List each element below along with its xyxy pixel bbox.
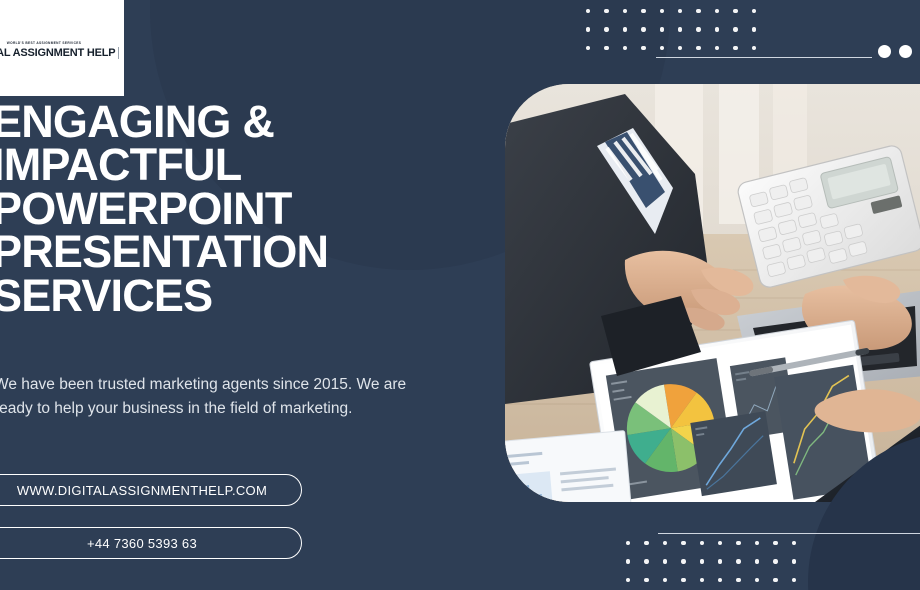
dot (752, 27, 756, 31)
dot (644, 578, 648, 582)
dot (681, 559, 685, 563)
large-dot (878, 45, 891, 58)
dot (644, 559, 648, 563)
dot (586, 46, 590, 50)
dot-grid-top (586, 9, 756, 50)
dot (678, 9, 682, 13)
phone-button-label: +44 7360 5393 63 (87, 536, 197, 551)
dot (678, 27, 682, 31)
logo-tagline: WORLD'S BEST ASSIGNMENT SERVICES (7, 41, 81, 45)
dot (681, 541, 685, 545)
hero-photo (505, 84, 920, 502)
promo-banner: WORLD'S BEST ASSIGNMENT SERVICES DIGITAL… (0, 0, 920, 590)
dot (681, 578, 685, 582)
divider-line-top (656, 57, 872, 58)
dot (755, 578, 759, 582)
dot (700, 578, 704, 582)
dot (623, 9, 627, 13)
dot (700, 541, 704, 545)
dot (773, 541, 777, 545)
logo[interactable]: WORLD'S BEST ASSIGNMENT SERVICES DIGITAL… (0, 0, 124, 96)
dot (755, 559, 759, 563)
dot (718, 559, 722, 563)
large-dot-row (878, 45, 920, 58)
dot (715, 9, 719, 13)
dot (792, 578, 796, 582)
dot (773, 559, 777, 563)
dot (733, 27, 737, 31)
dot (700, 559, 704, 563)
website-button-label: WWW.DIGITALASSIGNMENTHELP.COM (17, 483, 267, 498)
dot (660, 46, 664, 50)
dot (752, 46, 756, 50)
dot (660, 9, 664, 13)
dot (641, 46, 645, 50)
dot (736, 559, 740, 563)
dot (755, 541, 759, 545)
dot-grid-bottom (626, 541, 796, 582)
dot (696, 9, 700, 13)
phone-button[interactable]: +44 7360 5393 63 (0, 527, 302, 559)
dot (678, 46, 682, 50)
dot (696, 46, 700, 50)
dot (660, 27, 664, 31)
page-title: ENGAGING & IMPACTFUL POWERPOINT PRESENTA… (0, 100, 462, 317)
dot (663, 578, 667, 582)
dot (733, 9, 737, 13)
dot (773, 578, 777, 582)
dot (586, 27, 590, 31)
dot (663, 541, 667, 545)
dot (641, 27, 645, 31)
dot (623, 46, 627, 50)
dot (718, 578, 722, 582)
subtitle-text: We have been trusted marketing agents si… (0, 373, 444, 421)
dot (623, 27, 627, 31)
dot (733, 46, 737, 50)
dot (715, 27, 719, 31)
dot (586, 9, 590, 13)
dot (718, 541, 722, 545)
dot (736, 541, 740, 545)
dot (604, 9, 608, 13)
dot (626, 578, 630, 582)
dot (792, 559, 796, 563)
dot (626, 541, 630, 545)
large-dot (899, 45, 912, 58)
website-button[interactable]: WWW.DIGITALASSIGNMENTHELP.COM (0, 474, 302, 506)
dot (641, 9, 645, 13)
dot (752, 9, 756, 13)
dot (604, 27, 608, 31)
dot (736, 578, 740, 582)
dot (663, 559, 667, 563)
hero-photo-illustration (505, 84, 920, 502)
dot (696, 27, 700, 31)
divider-line-bottom (658, 533, 920, 534)
dot (644, 541, 648, 545)
dot (626, 559, 630, 563)
dot (792, 541, 796, 545)
dot (715, 46, 719, 50)
logo-name: DIGITAL ASSIGNMENT HELP (0, 47, 119, 59)
dot (604, 46, 608, 50)
